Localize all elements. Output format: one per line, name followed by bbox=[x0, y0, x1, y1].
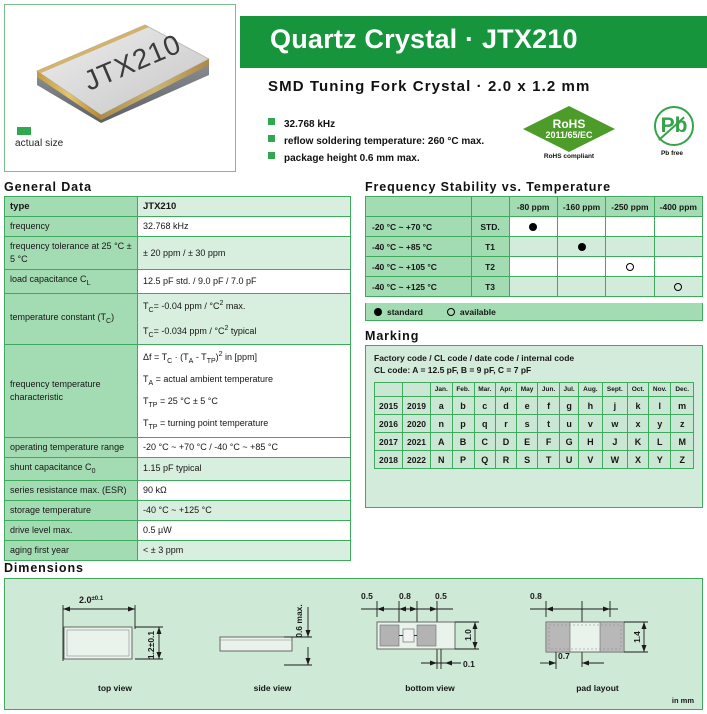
date-code-cell: E bbox=[517, 433, 538, 451]
option-code-label: T2 bbox=[471, 257, 509, 277]
stability-cell bbox=[606, 277, 654, 297]
date-code-cell: u bbox=[560, 415, 579, 433]
table-row: 20182022NPQRSTUVWXYZ bbox=[375, 451, 694, 469]
general-data-value: 12.5 pF std. / 9.0 pF / 7.0 pF bbox=[138, 270, 351, 294]
date-code-cell: j bbox=[602, 397, 627, 415]
marking-note-line2: CL code: A = 12.5 pF, B = 9 pF, C = 7 pF bbox=[374, 364, 574, 376]
date-code-cell: x bbox=[628, 415, 649, 433]
general-data-key: frequency tolerance at 25 °C ± 5 °C bbox=[5, 237, 138, 270]
date-code-cell: M bbox=[671, 433, 694, 451]
date-code-cell: d bbox=[496, 397, 517, 415]
month-header: Dec. bbox=[671, 383, 694, 397]
rohs-caption: RoHS compliant bbox=[523, 153, 615, 160]
drawing-pad-layout: 0.8 1.4 0.7 bbox=[520, 587, 675, 682]
date-code-cell: r bbox=[496, 415, 517, 433]
filled-dot-icon bbox=[374, 308, 382, 316]
table-row: storage temperature-40 °C ~ +125 °C bbox=[5, 501, 351, 521]
date-code-cell: Z bbox=[671, 451, 694, 469]
stability-cell bbox=[654, 257, 702, 277]
temp-range-label: -20 °C ~ +70 °C bbox=[366, 217, 472, 237]
date-code-cell: D bbox=[496, 433, 517, 451]
stability-cell bbox=[606, 217, 654, 237]
general-data-key: load capacitance CL bbox=[5, 270, 138, 294]
marking-note-line1: Factory code / CL code / date code / int… bbox=[374, 352, 574, 364]
table-row: frequency32.768 kHz bbox=[5, 217, 351, 237]
date-code-cell: f bbox=[538, 397, 560, 415]
marking-date-code-table: Jan.Feb.Mar.Apr.MayJun.Jul.Aug.Sept.Oct.… bbox=[374, 382, 694, 469]
option-code-label: STD. bbox=[471, 217, 509, 237]
month-header: Mar. bbox=[474, 383, 496, 397]
stability-cell bbox=[654, 277, 702, 297]
date-code-cell: P bbox=[452, 451, 474, 469]
dim-bottom-vertical: 1.0 bbox=[463, 629, 473, 641]
caption-side-view: side view bbox=[200, 683, 345, 693]
date-code-cell: y bbox=[649, 415, 671, 433]
square-bullet-icon bbox=[268, 135, 275, 142]
table-row: load capacitance CL12.5 pF std. / 9.0 pF… bbox=[5, 270, 351, 294]
column-header-ppm: -80 ppm bbox=[509, 197, 557, 217]
month-header: Nov. bbox=[649, 383, 671, 397]
page-title: Quartz Crystal · JTX210 bbox=[270, 24, 578, 55]
general-data-value: ± 20 ppm / ± 30 ppm bbox=[138, 237, 351, 270]
month-header: May bbox=[517, 383, 538, 397]
month-header: Jan. bbox=[431, 383, 453, 397]
date-code-cell: e bbox=[517, 397, 538, 415]
date-code-cell: K bbox=[628, 433, 649, 451]
dim-pad-vertical: 1.4 bbox=[632, 631, 642, 643]
rohs-compliant-logo: RoHS 2011/65/EC RoHS compliant bbox=[523, 106, 615, 164]
year-label-a: 2017 bbox=[375, 433, 403, 451]
dim-bottom-left: 0.5 bbox=[361, 591, 373, 601]
general-data-key: shunt capacitance C0 bbox=[5, 457, 138, 481]
stability-cell bbox=[509, 237, 557, 257]
actual-size-swatch bbox=[17, 127, 31, 135]
stability-cell bbox=[509, 277, 557, 297]
page-header: JTX210 actual size Quartz Crystal · JTX2… bbox=[0, 0, 707, 178]
general-data-value: 0.5 µW bbox=[138, 521, 351, 541]
date-code-cell: S bbox=[517, 451, 538, 469]
dim-bottom-offset: 0.1 bbox=[463, 659, 475, 669]
dim-pad-top: 0.8 bbox=[530, 591, 542, 601]
date-code-cell: a bbox=[431, 397, 453, 415]
date-code-cell: G bbox=[560, 433, 579, 451]
temp-range-label: -40 °C ~ +85 °C bbox=[366, 237, 472, 257]
section-title-general-data: General Data bbox=[4, 180, 92, 194]
date-code-cell: Q bbox=[474, 451, 496, 469]
table-row: operating temperature range-20 °C ~ +70 … bbox=[5, 437, 351, 457]
header-blank bbox=[403, 383, 431, 397]
stability-cell bbox=[509, 257, 557, 277]
date-code-cell: X bbox=[628, 451, 649, 469]
header-blank bbox=[366, 197, 472, 217]
list-item: reflow soldering temperature: 260 °C max… bbox=[268, 131, 484, 146]
bullet-label: reflow soldering temperature: 260 °C max… bbox=[284, 136, 484, 147]
marking-panel: Factory code / CL code / date code / int… bbox=[365, 345, 703, 508]
stability-cell bbox=[509, 217, 557, 237]
filled-dot-icon bbox=[578, 243, 586, 251]
date-code-cell: T bbox=[538, 451, 560, 469]
stability-cell bbox=[557, 277, 605, 297]
general-data-key: type bbox=[5, 197, 138, 217]
date-code-cell: s bbox=[517, 415, 538, 433]
header-blank bbox=[375, 383, 403, 397]
general-data-value: -20 °C ~ +70 °C / -40 °C ~ +85 °C bbox=[138, 437, 351, 457]
table-row: -40 °C ~ +125 °CT3 bbox=[366, 277, 703, 297]
date-code-cell: n bbox=[431, 415, 453, 433]
general-data-key: frequency bbox=[5, 217, 138, 237]
header-blank bbox=[471, 197, 509, 217]
year-label-a: 2018 bbox=[375, 451, 403, 469]
column-header-ppm: -160 ppm bbox=[557, 197, 605, 217]
section-title-dimensions: Dimensions bbox=[4, 561, 84, 575]
date-code-cell: v bbox=[579, 415, 602, 433]
date-code-cell: p bbox=[452, 415, 474, 433]
date-code-cell: h bbox=[579, 397, 602, 415]
date-code-cell: B bbox=[452, 433, 474, 451]
table-row: -40 °C ~ +85 °CT1 bbox=[366, 237, 703, 257]
list-item: 32.768 kHz bbox=[268, 114, 484, 129]
open-dot-icon bbox=[626, 263, 634, 271]
rohs-label: RoHS bbox=[553, 118, 586, 130]
frequency-stability-table: -80 ppm-160 ppm-250 ppm-400 ppm-20 °C ~ … bbox=[365, 196, 703, 297]
page-subtitle: SMD Tuning Fork Crystal · 2.0 x 1.2 mm bbox=[268, 78, 590, 95]
open-dot-icon bbox=[447, 308, 455, 316]
table-row: typeJTX210 bbox=[5, 197, 351, 217]
month-header: Sept. bbox=[602, 383, 627, 397]
general-data-value: 90 kΩ bbox=[138, 481, 351, 501]
table-row: frequency temperature characteristicΔf =… bbox=[5, 345, 351, 437]
stability-cell bbox=[557, 217, 605, 237]
date-code-cell: H bbox=[579, 433, 602, 451]
open-dot-icon bbox=[674, 283, 682, 291]
year-label-b: 2022 bbox=[403, 451, 431, 469]
general-data-value: Δf = TC · (TA - TTP)2 in [ppm]TA = actua… bbox=[138, 345, 351, 437]
bullet-label: package height 0.6 mm max. bbox=[284, 153, 420, 164]
date-code-cell: m bbox=[671, 397, 694, 415]
date-code-cell: c bbox=[474, 397, 496, 415]
general-data-value: JTX210 bbox=[138, 197, 351, 217]
stability-cell bbox=[654, 237, 702, 257]
date-code-cell: t bbox=[538, 415, 560, 433]
pb-free-caption: Pb free bbox=[648, 150, 696, 157]
drawing-side-view: 0.6 max. bbox=[200, 587, 345, 682]
general-data-value: TC= -0.04 ppm / °C2 max.TC= -0.034 ppm /… bbox=[138, 293, 351, 345]
general-data-key: storage temperature bbox=[5, 501, 138, 521]
section-title-marking: Marking bbox=[365, 329, 419, 343]
legend-standard-label: standard bbox=[387, 307, 423, 317]
general-data-key: aging first year bbox=[5, 541, 138, 561]
pb-free-logo: Pb Pb free bbox=[648, 106, 696, 164]
table-row: 20152019abcdefghjklm bbox=[375, 397, 694, 415]
date-code-cell: N bbox=[431, 451, 453, 469]
option-code-label: T1 bbox=[471, 237, 509, 257]
stability-cell bbox=[606, 237, 654, 257]
table-row: aging first year< ± 3 ppm bbox=[5, 541, 351, 561]
stability-cell bbox=[654, 217, 702, 237]
feature-bullet-list: 32.768 kHz reflow soldering temperature:… bbox=[268, 114, 484, 165]
dim-bottom-middle: 0.8 bbox=[399, 591, 411, 601]
date-code-cell: w bbox=[602, 415, 627, 433]
date-code-cell: C bbox=[474, 433, 496, 451]
rohs-directive-label: 2011/65/EC bbox=[545, 130, 592, 141]
date-code-cell: q bbox=[474, 415, 496, 433]
date-code-cell: z bbox=[671, 415, 694, 433]
square-bullet-icon bbox=[268, 152, 275, 159]
caption-pad-layout: pad layout bbox=[520, 683, 675, 693]
month-header: Jun. bbox=[538, 383, 560, 397]
date-code-cell: Y bbox=[649, 451, 671, 469]
table-row: drive level max.0.5 µW bbox=[5, 521, 351, 541]
date-code-cell: W bbox=[602, 451, 627, 469]
year-label-b: 2020 bbox=[403, 415, 431, 433]
table-row: frequency tolerance at 25 °C ± 5 °C± 20 … bbox=[5, 237, 351, 270]
column-header-ppm: -250 ppm bbox=[606, 197, 654, 217]
option-code-label: T3 bbox=[471, 277, 509, 297]
stability-cell bbox=[557, 237, 605, 257]
general-data-key: frequency temperature characteristic bbox=[5, 345, 138, 437]
date-code-cell: J bbox=[602, 433, 627, 451]
stability-cell bbox=[606, 257, 654, 277]
dimensions-panel: 2.0±0.1 1.2±0.1 top view 0.6 max. side v… bbox=[4, 578, 703, 710]
year-label-a: 2016 bbox=[375, 415, 403, 433]
temp-range-label: -40 °C ~ +125 °C bbox=[366, 277, 472, 297]
table-row: 20162020npqrstuvwxyz bbox=[375, 415, 694, 433]
table-row: temperature constant (TC)TC= -0.04 ppm /… bbox=[5, 293, 351, 345]
date-code-cell: A bbox=[431, 433, 453, 451]
general-data-key: drive level max. bbox=[5, 521, 138, 541]
month-header: Feb. bbox=[452, 383, 474, 397]
date-code-cell: L bbox=[649, 433, 671, 451]
general-data-value: 1.15 pF typical bbox=[138, 457, 351, 481]
table-header-row: Jan.Feb.Mar.Apr.MayJun.Jul.Aug.Sept.Oct.… bbox=[375, 383, 694, 397]
filled-dot-icon bbox=[529, 223, 537, 231]
general-data-key: series resistance max. (ESR) bbox=[5, 481, 138, 501]
product-photo-panel: JTX210 actual size bbox=[4, 4, 236, 172]
general-data-table: typeJTX210frequency32.768 kHzfrequency t… bbox=[4, 196, 351, 561]
caption-top-view: top view bbox=[35, 683, 195, 693]
temp-range-label: -40 °C ~ +105 °C bbox=[366, 257, 472, 277]
rohs-diamond-icon: RoHS 2011/65/EC bbox=[523, 106, 615, 152]
table-row: -20 °C ~ +70 °CSTD. bbox=[366, 217, 703, 237]
title-banner: Quartz Crystal · JTX210 bbox=[240, 16, 707, 68]
date-code-cell: l bbox=[649, 397, 671, 415]
table-header-row: -80 ppm-160 ppm-250 ppm-400 ppm bbox=[366, 197, 703, 217]
crystal-product-image: JTX210 bbox=[27, 19, 217, 129]
dim-bottom-right: 0.5 bbox=[435, 591, 447, 601]
drawing-top-view: 2.0±0.1 1.2±0.1 bbox=[35, 587, 195, 682]
date-code-cell: V bbox=[579, 451, 602, 469]
general-data-value: < ± 3 ppm bbox=[138, 541, 351, 561]
date-code-cell: b bbox=[452, 397, 474, 415]
year-label-b: 2021 bbox=[403, 433, 431, 451]
general-data-key: temperature constant (TC) bbox=[5, 293, 138, 345]
list-item: package height 0.6 mm max. bbox=[268, 148, 484, 163]
month-header: Apr. bbox=[496, 383, 517, 397]
dim-side-height: 0.6 max. bbox=[294, 604, 304, 638]
table-row: shunt capacitance C01.15 pF typical bbox=[5, 457, 351, 481]
frequency-stability-legend: standard available bbox=[365, 303, 703, 321]
drawing-bottom-view: 0.5 0.8 0.5 1.0 0.1 bbox=[355, 587, 505, 682]
date-code-cell: F bbox=[538, 433, 560, 451]
table-row: series resistance max. (ESR)90 kΩ bbox=[5, 481, 351, 501]
square-bullet-icon bbox=[268, 118, 275, 125]
stability-cell bbox=[557, 257, 605, 277]
section-title-freq-stability: Frequency Stability vs. Temperature bbox=[365, 180, 611, 194]
date-code-cell: R bbox=[496, 451, 517, 469]
date-code-cell: k bbox=[628, 397, 649, 415]
table-row: -40 °C ~ +105 °CT2 bbox=[366, 257, 703, 277]
year-label-b: 2019 bbox=[403, 397, 431, 415]
dim-pad-bottom: 0.7 bbox=[558, 651, 570, 661]
date-code-cell: g bbox=[560, 397, 579, 415]
month-header: Aug. bbox=[579, 383, 602, 397]
year-label-a: 2015 bbox=[375, 397, 403, 415]
date-code-cell: U bbox=[560, 451, 579, 469]
table-row: 20172021ABCDEFGHJKLM bbox=[375, 433, 694, 451]
general-data-value: -40 °C ~ +125 °C bbox=[138, 501, 351, 521]
caption-bottom-view: bottom view bbox=[355, 683, 505, 693]
bullet-label: 32.768 kHz bbox=[284, 119, 335, 130]
month-header: Jul. bbox=[560, 383, 579, 397]
legend-available-label: available bbox=[460, 307, 496, 317]
actual-size-label: actual size bbox=[15, 138, 63, 149]
unit-note: in mm bbox=[672, 696, 694, 705]
dim-top-height: 1.2±0.1 bbox=[146, 631, 156, 660]
general-data-key: operating temperature range bbox=[5, 437, 138, 457]
month-header: Oct. bbox=[628, 383, 649, 397]
marking-note: Factory code / CL code / date code / int… bbox=[374, 352, 574, 376]
general-data-value: 32.768 kHz bbox=[138, 217, 351, 237]
column-header-ppm: -400 ppm bbox=[654, 197, 702, 217]
dim-top-width: 2.0±0.1 bbox=[79, 595, 104, 605]
